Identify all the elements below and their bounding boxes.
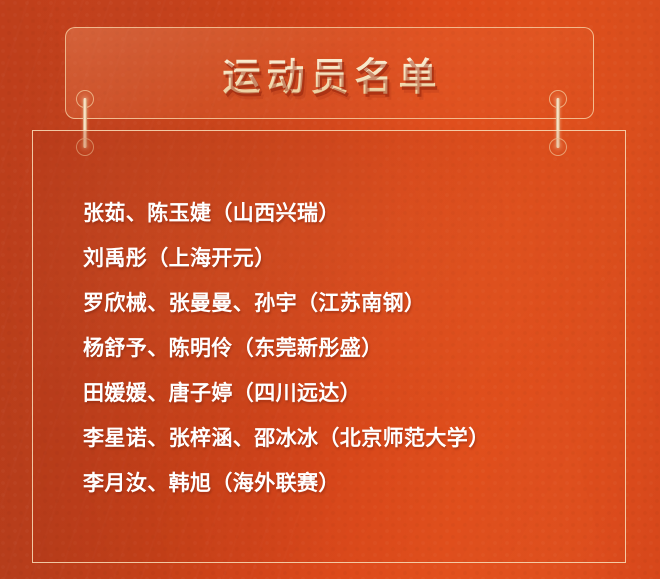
list-item: 李月汝、韩旭（海外联赛） xyxy=(83,461,611,506)
title-banner: 运动员名单 xyxy=(65,27,594,119)
list-item: 罗欣械、张曼曼、孙宇（江苏南钢） xyxy=(83,281,611,326)
list-item: 刘禹彤（上海开元） xyxy=(83,236,611,281)
list-item: 杨舒予、陈明伶（东莞新彤盛） xyxy=(83,326,611,371)
list-item: 张茹、陈玉婕（山西兴瑞） xyxy=(83,191,611,236)
list-item: 李星诺、张梓涵、邵冰冰（北京师范大学） xyxy=(83,416,611,461)
roster-frame: 张茹、陈玉婕（山西兴瑞） 刘禹彤（上海开元） 罗欣械、张曼曼、孙宇（江苏南钢） … xyxy=(32,130,626,563)
list-item: 田媛媛、唐子婷（四川远达） xyxy=(83,371,611,416)
poster-root: 运动员名单 张茹、陈玉婕（山西兴瑞） 刘禹彤（上海开元） 罗欣械、张曼曼、孙宇（… xyxy=(0,0,660,579)
roster-list: 张茹、陈玉婕（山西兴瑞） 刘禹彤（上海开元） 罗欣械、张曼曼、孙宇（江苏南钢） … xyxy=(83,191,611,506)
page-title: 运动员名单 xyxy=(216,46,442,101)
